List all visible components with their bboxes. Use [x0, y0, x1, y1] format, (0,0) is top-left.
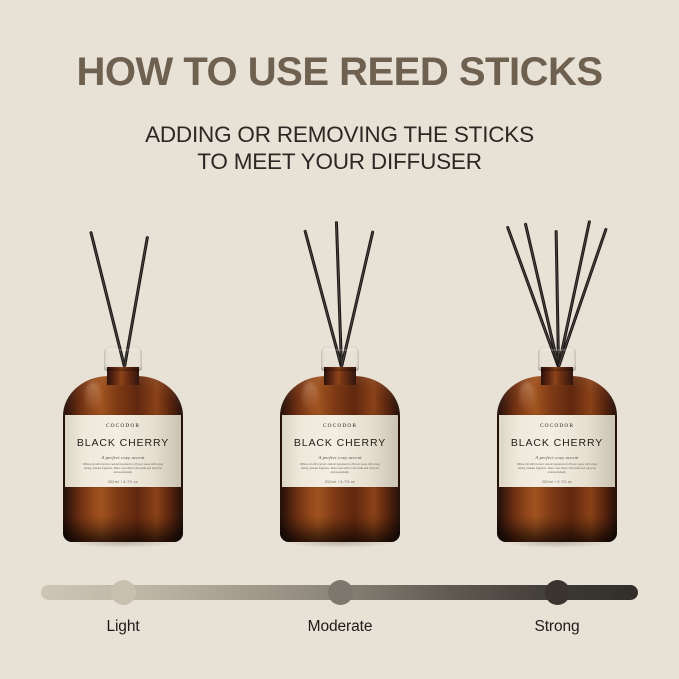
label-script-tagline: A perfect cozy accent	[65, 455, 181, 460]
bottle-strong: COCODOR BLACK CHERRY A perfect cozy acce…	[457, 195, 657, 550]
bottle-collar	[538, 346, 576, 371]
diffuser-bottle: COCODOR BLACK CHERRY A perfect cozy acce…	[497, 346, 617, 542]
bottle-moderate: COCODOR BLACK CHERRY A perfect cozy acce…	[240, 195, 440, 550]
page-subtitle-line-2: TO MEET YOUR DIFFUSER	[0, 148, 679, 175]
slider-knob-moderate[interactable]	[328, 580, 353, 605]
bottle-label: COCODOR BLACK CHERRY A perfect cozy acce…	[65, 415, 181, 487]
label-script-tagline: A perfect cozy accent	[282, 455, 398, 460]
slider-label-light: Light	[53, 618, 193, 636]
header: HOW TO USE REED STICKS ADDING OR REMOVIN…	[0, 0, 679, 176]
label-description: Diffuser oil with premium natural ingred…	[515, 463, 599, 475]
diffuser-bottle: COCODOR BLACK CHERRY A perfect cozy acce…	[63, 346, 183, 542]
label-brand: COCODOR	[499, 423, 615, 429]
label-volume: 200ml / 6.7fl.oz	[499, 480, 615, 484]
reed-stick-group-strong	[457, 207, 657, 367]
label-brand: COCODOR	[282, 423, 398, 429]
intensity-slider[interactable]: Light Moderate Strong	[0, 570, 679, 650]
page-subtitle: ADDING OR REMOVING THE STICKS TO MEET YO…	[0, 92, 679, 176]
bottle-comparison-row: COCODOR BLACK CHERRY A perfect cozy acce…	[0, 195, 679, 550]
slider-knob-light[interactable]	[111, 580, 136, 605]
label-product-name: BLACK CHERRY	[65, 437, 181, 449]
reed-stick-group-moderate	[240, 207, 440, 367]
label-description: Diffuser oil with premium natural ingred…	[298, 463, 382, 475]
slider-label-strong: Strong	[487, 618, 627, 636]
label-volume: 200ml / 6.7fl.oz	[65, 480, 181, 484]
page-subtitle-line-1: ADDING OR REMOVING THE STICKS	[0, 121, 679, 148]
page-title: HOW TO USE REED STICKS	[0, 0, 679, 92]
diffuser-bottle: COCODOR BLACK CHERRY A perfect cozy acce…	[280, 346, 400, 542]
label-brand: COCODOR	[65, 423, 181, 429]
bottle-collar	[104, 346, 142, 371]
label-volume: 200ml / 6.7fl.oz	[282, 480, 398, 484]
reed-stick-group-light	[23, 207, 223, 367]
slider-label-moderate: Moderate	[270, 618, 410, 636]
bottle-label: COCODOR BLACK CHERRY A perfect cozy acce…	[499, 415, 615, 487]
slider-knob-strong[interactable]	[545, 580, 570, 605]
label-script-tagline: A perfect cozy accent	[499, 455, 615, 460]
bottle-light: COCODOR BLACK CHERRY A perfect cozy acce…	[23, 195, 223, 550]
label-description: Diffuser oil with premium natural ingred…	[81, 463, 165, 475]
label-product-name: BLACK CHERRY	[282, 437, 398, 449]
label-product-name: BLACK CHERRY	[499, 437, 615, 449]
bottle-collar	[321, 346, 359, 371]
bottle-label: COCODOR BLACK CHERRY A perfect cozy acce…	[282, 415, 398, 487]
